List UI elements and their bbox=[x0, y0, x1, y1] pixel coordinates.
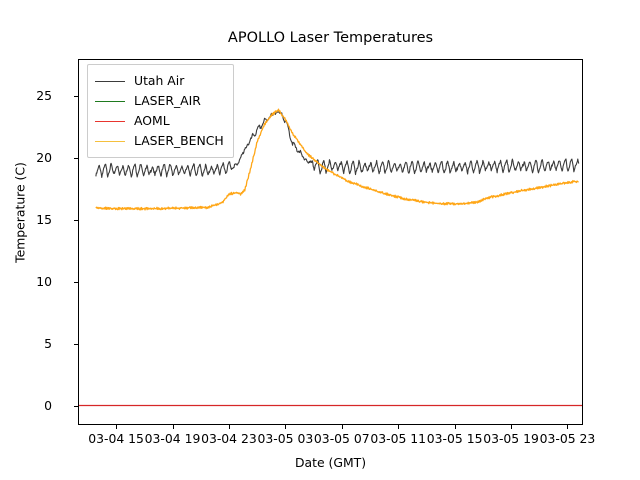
x-tick-mark bbox=[173, 425, 174, 429]
chart-title: APOLLO Laser Temperatures bbox=[78, 30, 583, 46]
legend-item-laser-bench[interactable]: LASER_BENCH bbox=[95, 131, 224, 151]
x-tick-mark bbox=[455, 425, 456, 429]
legend-label-utah-air: Utah Air bbox=[134, 74, 184, 88]
legend-label-laser-bench: LASER_BENCH bbox=[134, 134, 224, 148]
x-tick-mark bbox=[229, 425, 230, 429]
y-tick-label: 20 bbox=[12, 152, 52, 164]
legend-label-aoml: AOML bbox=[134, 114, 170, 128]
y-tick-label: 25 bbox=[12, 90, 52, 102]
y-tick-label: 5 bbox=[12, 338, 52, 350]
x-tick-mark bbox=[342, 425, 343, 429]
x-tick-mark bbox=[285, 425, 286, 429]
chart-legend: Utah Air LASER_AIR AOML LASER_BENCH bbox=[87, 64, 234, 158]
legend-item-laser-air[interactable]: LASER_AIR bbox=[95, 91, 224, 111]
x-tick-mark bbox=[398, 425, 399, 429]
y-tick-label: 0 bbox=[12, 400, 52, 412]
y-axis-label: Temperature (C) bbox=[13, 63, 28, 363]
legend-swatch-laser-air bbox=[95, 101, 125, 102]
x-tick-mark bbox=[567, 425, 568, 429]
legend-label-laser-air: LASER_AIR bbox=[134, 94, 201, 108]
x-tick-mark bbox=[116, 425, 117, 429]
y-tick-label: 10 bbox=[12, 276, 52, 288]
chart-figure: APOLLO Laser Temperatures Temperature (C… bbox=[0, 0, 640, 480]
legend-swatch-aoml bbox=[95, 121, 125, 122]
y-tick-label: 15 bbox=[12, 214, 52, 226]
legend-item-utah-air[interactable]: Utah Air bbox=[95, 71, 224, 91]
x-tick-mark bbox=[511, 425, 512, 429]
legend-swatch-utah-air bbox=[95, 81, 125, 82]
legend-swatch-laser-bench bbox=[95, 141, 125, 142]
x-axis-label: Date (GMT) bbox=[78, 455, 583, 470]
x-tick-label: 03-05 23 bbox=[517, 432, 617, 445]
legend-item-aoml[interactable]: AOML bbox=[95, 111, 224, 131]
